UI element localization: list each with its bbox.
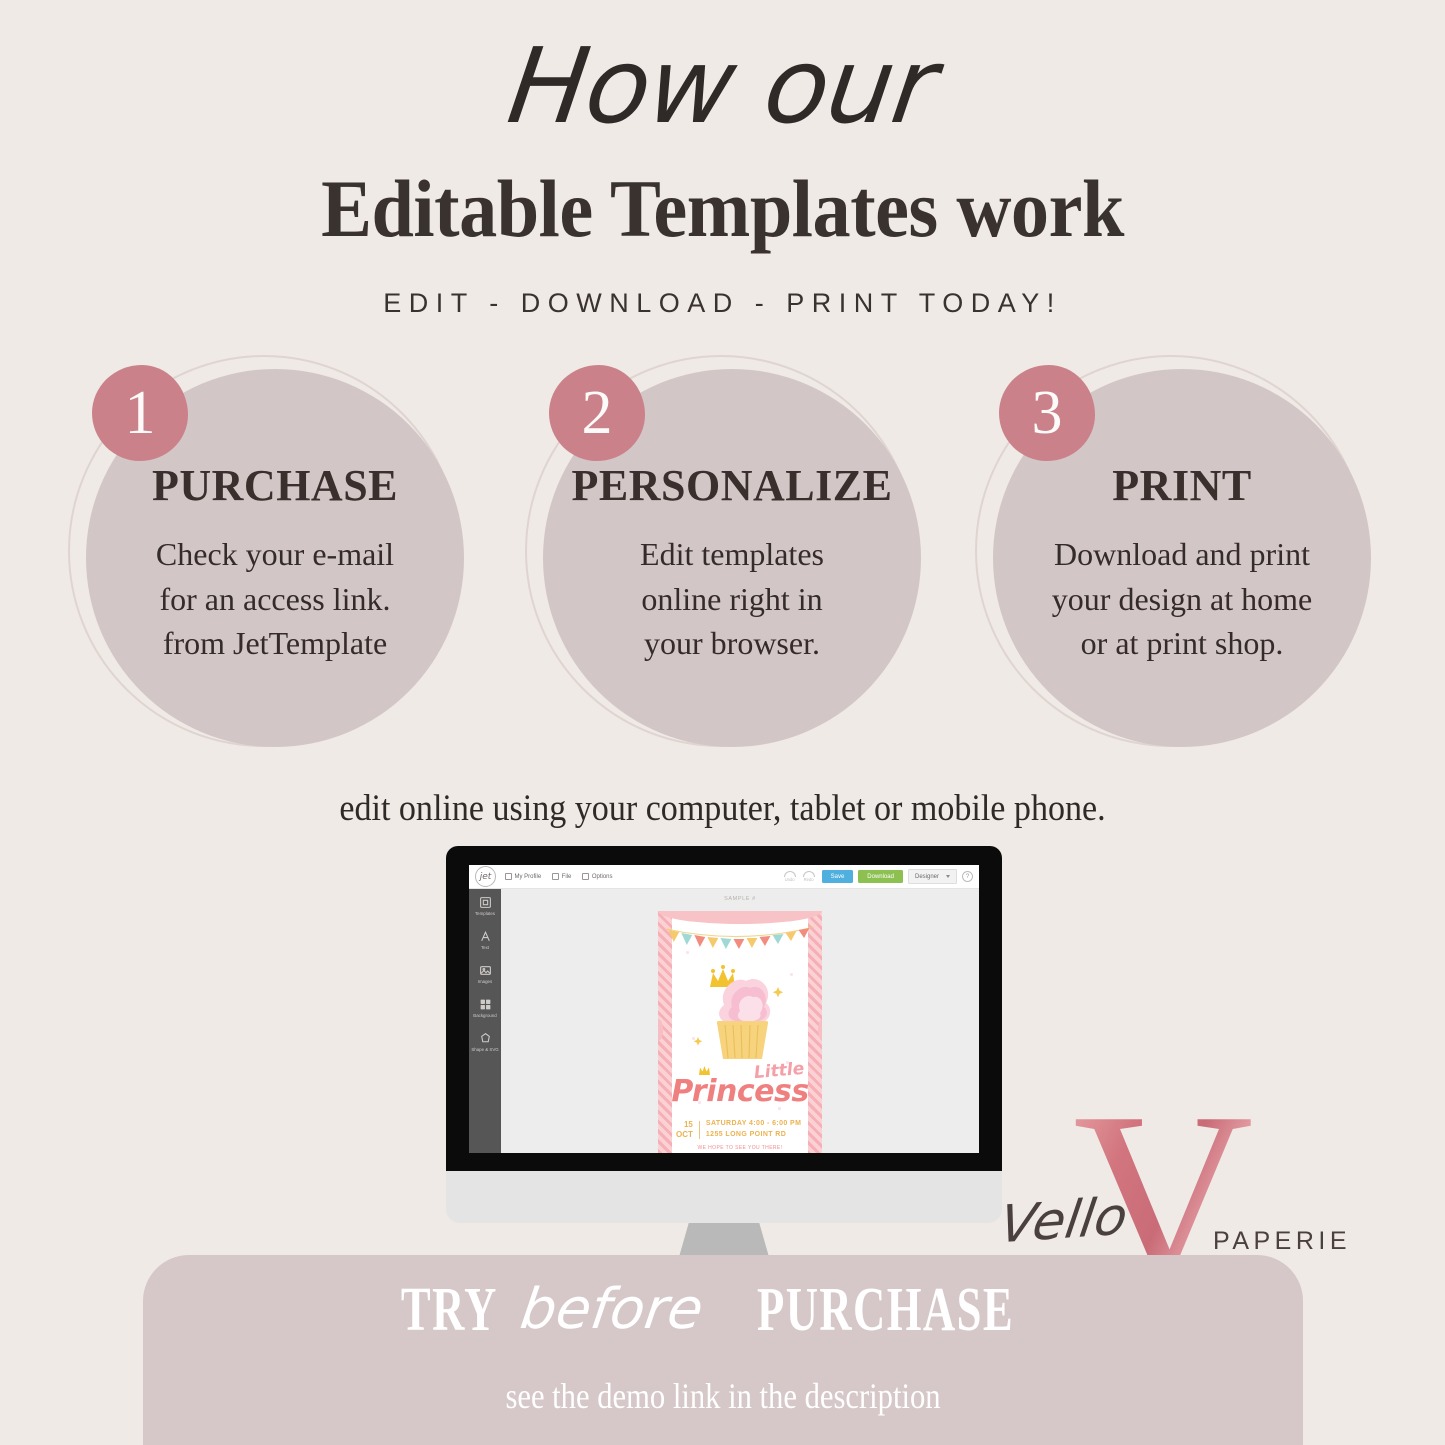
monitor-mockup: jet My Profile File Options — [446, 846, 1002, 1266]
card-date-left: 15 OCT — [676, 1120, 693, 1138]
step-desc-line: your browser. — [640, 621, 824, 666]
sidebar-item-images[interactable]: Images — [469, 964, 501, 984]
sidebar-item-background[interactable]: Background — [469, 998, 501, 1018]
editor-window: jet My Profile File Options — [469, 865, 979, 1153]
card-notch-right — [818, 1019, 823, 1041]
step-description-1: Check your e-mail for an access link. fr… — [156, 532, 394, 666]
card-title-large: Princess — [658, 1077, 822, 1107]
poster-canvas: How our Editable Templates work EDIT - D… — [0, 0, 1445, 1445]
banner-purchase: PURCHASE — [757, 1279, 1014, 1341]
step-desc-line: Check your e-mail — [156, 532, 394, 577]
sidebar-label: Background — [473, 1013, 496, 1018]
header-subtitle: EDIT - DOWNLOAD - PRINT TODAY! — [0, 288, 1445, 319]
card-date-block: 15 OCT SATURDAY 4:00 - 6:00 PM 1255 LONG… — [676, 1119, 804, 1140]
cupcake-illustration — [684, 955, 796, 1065]
step-desc-line: for an access link. — [156, 577, 394, 622]
card-time-line: SATURDAY 4:00 - 6:00 PM — [706, 1119, 801, 1130]
step-number-badge-3: 3 — [999, 365, 1095, 461]
redo-button[interactable]: Redo — [803, 871, 815, 882]
step-description-3: Download and print your design at home o… — [1052, 532, 1312, 666]
designer-dropdown[interactable]: Designer — [908, 869, 957, 884]
sidebar-item-text[interactable]: Text — [469, 930, 501, 950]
undo-button[interactable]: Undo — [784, 871, 796, 882]
text-icon — [479, 930, 492, 943]
card-date-right: SATURDAY 4:00 - 6:00 PM 1255 LONG POINT … — [706, 1119, 801, 1140]
chevron-down-icon — [946, 875, 950, 878]
menu-label: File — [562, 874, 572, 880]
monitor-bezel: jet My Profile File Options — [446, 846, 1002, 1171]
step-card-1: 1 PURCHASE Check your e-mail for an acce… — [68, 355, 468, 755]
step-desc-line: Edit templates — [640, 532, 824, 577]
menu-label: My Profile — [515, 874, 542, 880]
bottom-banner: TRYbeforePURCHASE see the demo link in t… — [143, 1255, 1303, 1445]
bunting-garland-icon — [664, 923, 816, 957]
step-desc-line: or at print shop. — [1052, 621, 1312, 666]
invitation-card[interactable]: Little Princess 15 OCT SATURDAY 4:00 - 6… — [658, 911, 822, 1153]
steps-row: 1 PURCHASE Check your e-mail for an acce… — [0, 355, 1445, 765]
step-title-1: PURCHASE — [152, 464, 398, 508]
editor-sidebar: Templates Text — [469, 889, 501, 1153]
download-button[interactable]: Download — [858, 870, 903, 883]
step-title-2: PERSONALIZE — [572, 464, 893, 508]
shape-svg-icon — [479, 1032, 492, 1045]
step-number-badge-2: 2 — [549, 365, 645, 461]
card-footer-text: WE HOPE TO SEE YOU THERE! — [658, 1145, 822, 1151]
editor-canvas[interactable]: SAMPLE # — [501, 889, 979, 1153]
canvas-sample-label: SAMPLE # — [501, 896, 979, 902]
banner-before-script: before — [517, 1282, 706, 1338]
menu-item-my-profile[interactable]: My Profile — [505, 873, 541, 880]
sidebar-label: Shape & SVG — [471, 1047, 498, 1052]
card-notch-left — [658, 1019, 663, 1041]
menu-label: Options — [592, 874, 613, 880]
redo-icon — [803, 871, 815, 877]
card-date-divider — [699, 1121, 700, 1139]
editor-toolbar: jet My Profile File Options — [469, 865, 979, 889]
step-desc-line: your design at home — [1052, 577, 1312, 622]
logo-word-paperie: PAPERIE — [1213, 1227, 1351, 1256]
step-desc-line: from JetTemplate — [156, 621, 394, 666]
sidebar-label: Templates — [475, 911, 495, 916]
redo-label: Redo — [804, 877, 814, 882]
step-number-badge-1: 1 — [92, 365, 188, 461]
designer-label: Designer — [915, 874, 939, 880]
step-desc-line: Download and print — [1052, 532, 1312, 577]
menu-item-file[interactable]: File — [552, 873, 571, 880]
devices-caption: edit online using your computer, tablet … — [58, 787, 1387, 830]
file-icon — [552, 873, 559, 880]
monitor-chin — [446, 1171, 1002, 1223]
header-script-line: How our — [0, 34, 1445, 138]
step-description-2: Edit templates online right in your brow… — [640, 532, 824, 666]
templates-icon — [479, 896, 492, 909]
sliders-icon — [582, 873, 589, 880]
step-card-2: 2 PERSONALIZE Edit templates online righ… — [525, 355, 925, 755]
step-desc-line: online right in — [640, 577, 824, 622]
page-title: Editable Templates work — [51, 168, 1395, 250]
editor-body: Templates Text — [469, 889, 979, 1153]
save-button[interactable]: Save — [822, 870, 854, 883]
banner-try: TRY — [401, 1279, 498, 1341]
banner-subline: see the demo link in the description — [230, 1375, 1216, 1417]
sidebar-label: Images — [478, 979, 492, 984]
step-card-3: 3 PRINT Download and print your design a… — [975, 355, 1375, 755]
sidebar-item-templates[interactable]: Templates — [469, 896, 501, 916]
card-date-month: OCT — [676, 1130, 693, 1139]
user-icon — [505, 873, 512, 880]
background-icon — [479, 998, 492, 1011]
logo-script-name: Vello — [997, 1191, 1131, 1252]
images-icon — [479, 964, 492, 977]
card-date-day: 15 — [676, 1120, 693, 1129]
undo-label: Undo — [785, 877, 795, 882]
sidebar-label: Text — [481, 945, 489, 950]
menu-item-options[interactable]: Options — [582, 873, 612, 880]
banner-headline: TRYbeforePURCHASE — [143, 1279, 1303, 1341]
step-title-3: PRINT — [1112, 464, 1251, 508]
sidebar-item-shape-svg[interactable]: Shape & SVG — [469, 1032, 501, 1052]
jet-logo-icon: jet — [475, 866, 496, 887]
card-address-line: 1255 LONG POINT RD — [706, 1130, 801, 1141]
small-crown-icon — [698, 1063, 711, 1074]
help-icon[interactable]: ? — [962, 871, 973, 882]
